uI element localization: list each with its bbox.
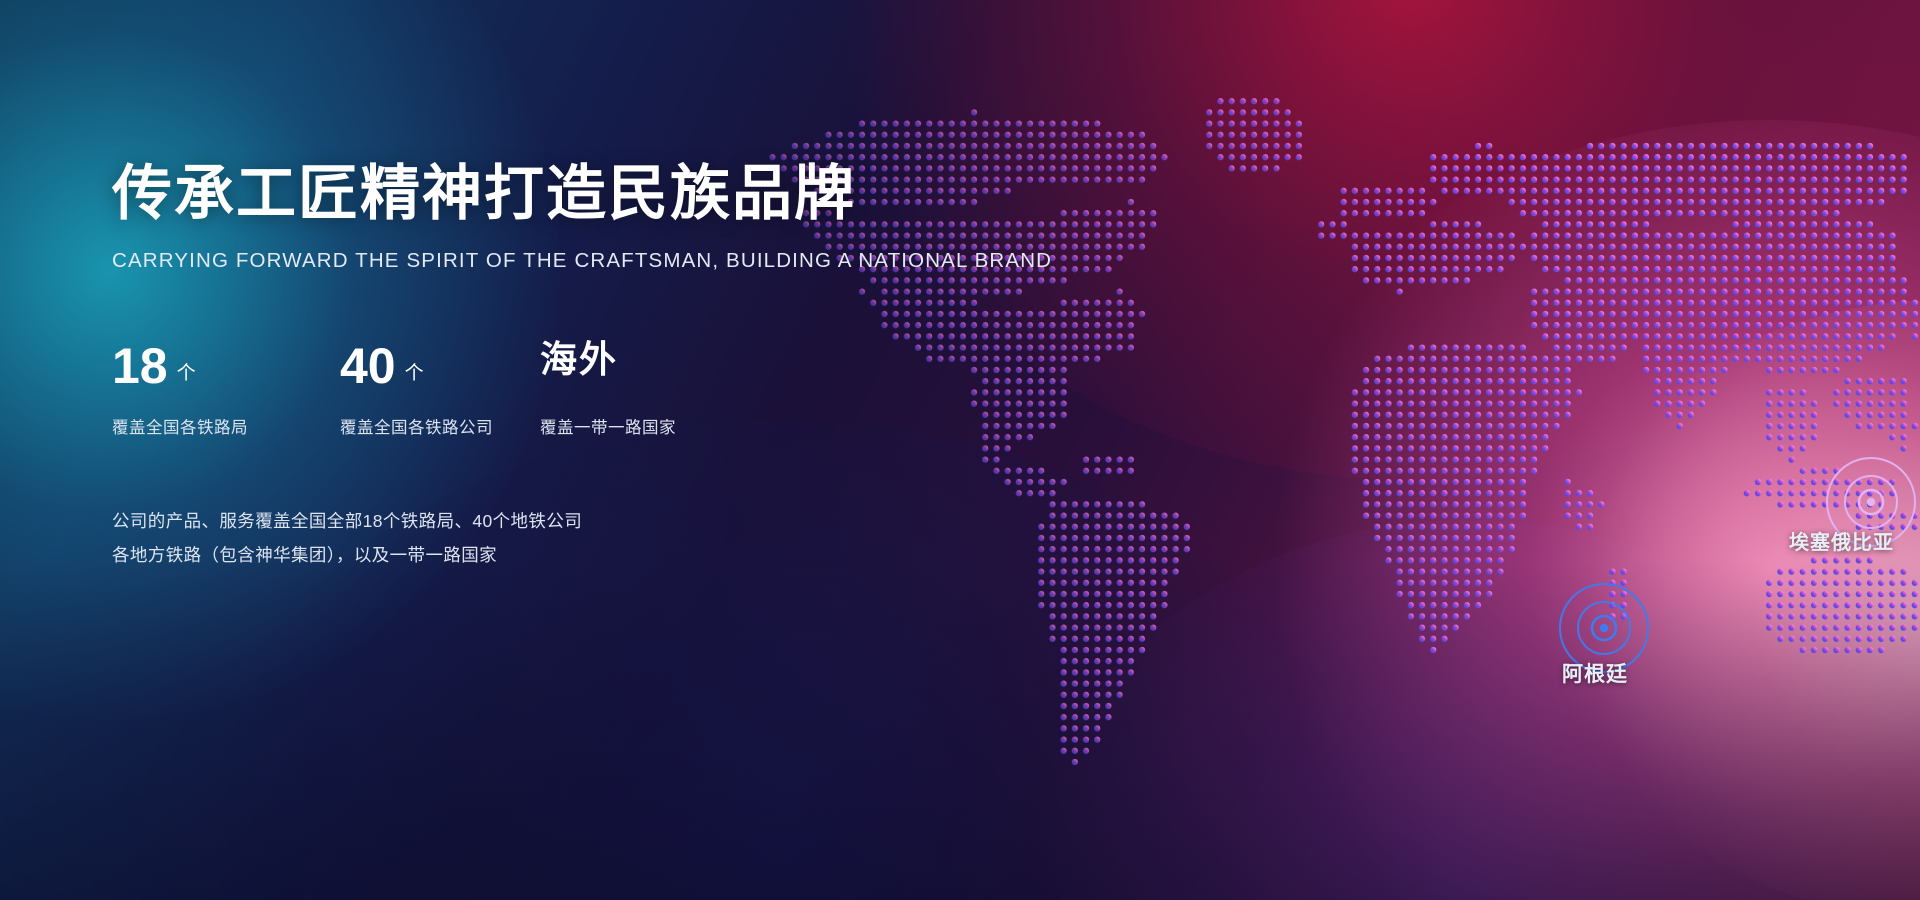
map-marker-label: 埃塞俄比亚 xyxy=(1789,526,1894,555)
stat-value-row: 40个 xyxy=(340,341,540,397)
stat-unit: 个 xyxy=(405,358,424,385)
page-subtitle: CARRYING FORWARD THE SPIRIT OF THE CRAFT… xyxy=(112,249,932,273)
stat-item-1: 18个覆盖全国各铁路局 xyxy=(112,341,340,438)
map-marker-3[interactable]: 埃塞俄比亚 xyxy=(1825,456,1917,548)
map-marker-4[interactable]: 阿根廷 xyxy=(1558,582,1650,674)
description-paragraph: 公司的产品、服务覆盖全国全部18个铁路局、40个地铁公司 各地方铁路（包含神华集… xyxy=(112,504,932,572)
hero-banner: 中国巴基斯坦埃塞俄比亚阿根廷 传承工匠精神打造民族品牌 CARRYING FOR… xyxy=(0,0,1920,900)
stat-value: 40 xyxy=(340,341,396,391)
stat-description: 覆盖全国各铁路局 xyxy=(112,414,340,438)
map-marker-label: 阿根廷 xyxy=(1562,658,1628,688)
stat-description: 覆盖全国各铁路公司 xyxy=(340,414,540,438)
stat-value: 海外 xyxy=(540,341,618,378)
stat-description: 覆盖一带一路国家 xyxy=(540,414,800,438)
stat-item-2: 40个覆盖全国各铁路公司 xyxy=(340,341,540,438)
stat-unit: 个 xyxy=(177,358,196,385)
stat-item-3: 海外覆盖一带一路国家 xyxy=(540,341,800,438)
stats-row: 18个覆盖全国各铁路局40个覆盖全国各铁路公司海外覆盖一带一路国家 xyxy=(112,341,932,438)
hero-content: 传承工匠精神打造民族品牌 CARRYING FORWARD THE SPIRIT… xyxy=(112,160,932,572)
description-line-1: 公司的产品、服务覆盖全国全部18个铁路局、40个地铁公司 xyxy=(112,504,932,538)
description-line-2: 各地方铁路（包含神华集团），以及一带一路国家 xyxy=(112,538,932,572)
stat-value-row: 18个 xyxy=(112,341,340,397)
stat-value: 18 xyxy=(112,341,168,391)
stat-value-row: 海外 xyxy=(540,341,800,397)
page-title: 传承工匠精神打造民族品牌 xyxy=(112,160,932,227)
